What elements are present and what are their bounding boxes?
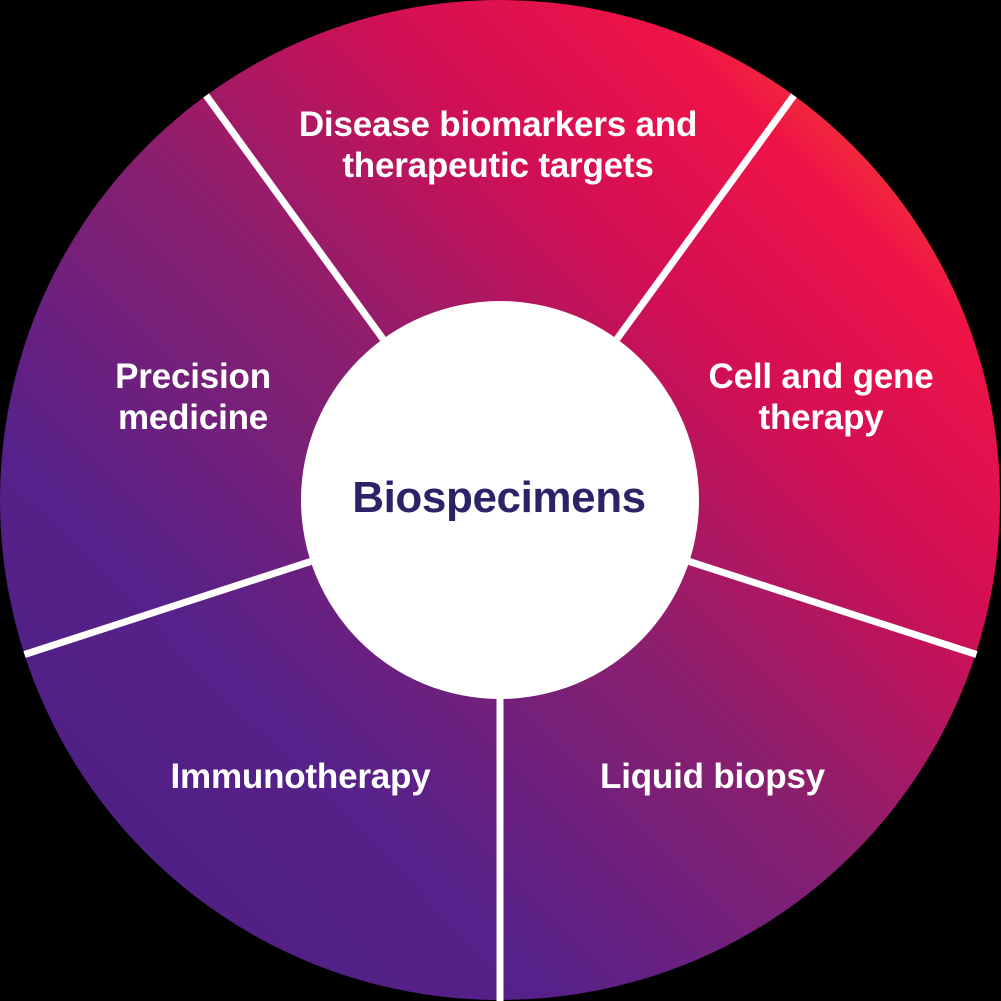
diagram-canvas: Disease biomarkers and therapeutic targe… (0, 0, 1001, 1001)
hub-title: Biospecimens (300, 474, 698, 522)
